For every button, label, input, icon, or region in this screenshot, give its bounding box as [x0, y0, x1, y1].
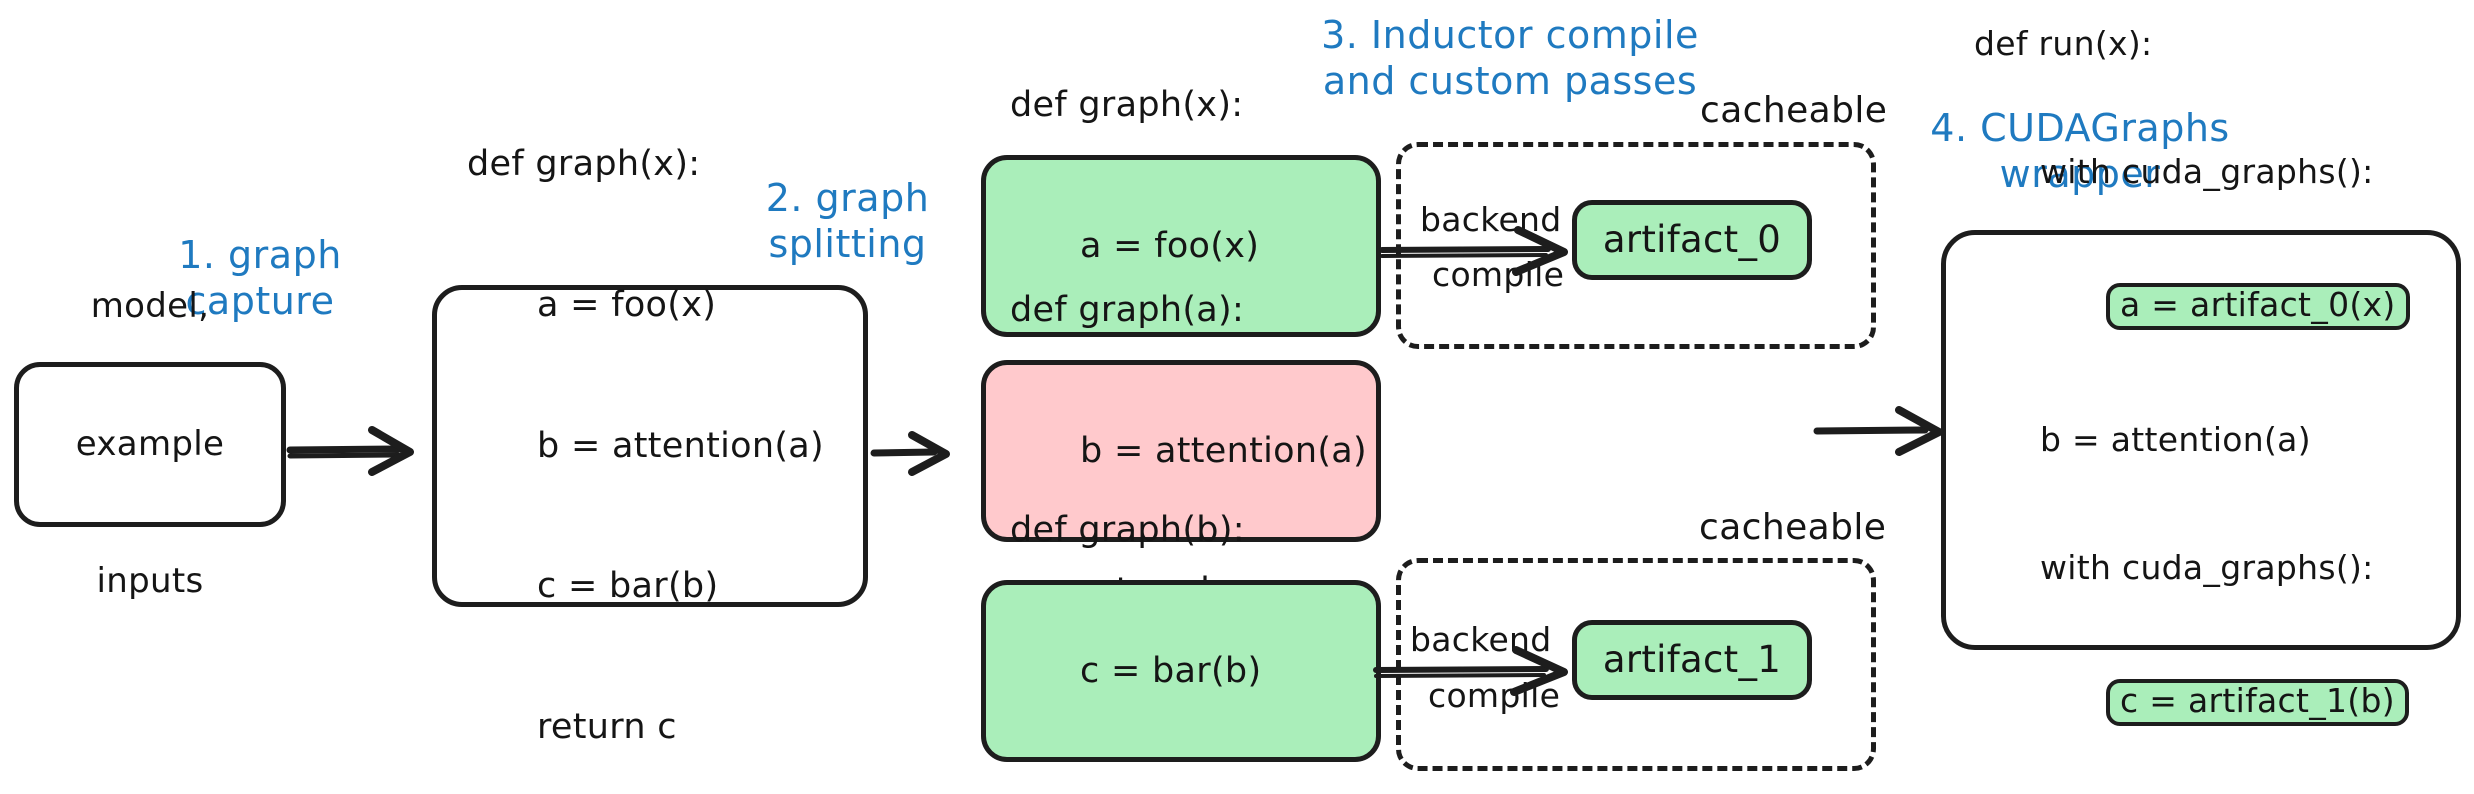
runtime-highlight-artifact-1: c = artifact_1(b) [2106, 679, 2409, 726]
artifact-1-label: artifact_1 [1603, 635, 1781, 685]
captured-graph-line-4: c = bar(b) [467, 563, 863, 610]
captured-graph-line-5: return c [467, 704, 863, 751]
runtime-line-3-wrap: a = artifact_0(x) [1974, 280, 2456, 333]
input-box-line-2: example [19, 422, 281, 468]
split-attention-line-1: def graph(a): [1010, 287, 1376, 334]
captured-graph-line-3: b = attention(a) [467, 423, 863, 470]
runtime-cudagraphs-box: def run(x): with cuda_graphs(): a = arti… [1941, 230, 2461, 650]
split-graph-box-bar: def graph(b): c = bar(b) return c [981, 580, 1381, 762]
artifact-box-1: artifact_1 [1572, 620, 1812, 700]
split-bar-line-2: c = bar(b) [1010, 648, 1376, 695]
runtime-line-6-wrap: c = artifact_1(b) [1974, 676, 2456, 729]
split-foo-line-1: def graph(x): [1010, 82, 1376, 129]
artifact-box-0: artifact_0 [1572, 200, 1812, 280]
runtime-line-4: b = attention(a) [1974, 419, 2456, 462]
cacheable-label-top: cacheable [1700, 90, 1887, 131]
cacheable-label-bottom: cacheable [1699, 507, 1886, 548]
diagram-canvas: 1. graph capture 2. graph splitting 3. I… [0, 0, 2474, 794]
runtime-line-1: def run(x): [1974, 23, 2456, 66]
captured-graph-box: def graph(x): a = foo(x) b = attention(a… [432, 285, 868, 607]
input-box-line-3: inputs [19, 559, 281, 605]
runtime-line-2: with cuda_graphs(): [1974, 151, 2456, 194]
artifact-0-label: artifact_0 [1603, 215, 1781, 265]
arrow-graph-to-split [872, 424, 982, 484]
arrow-input-to-graph [288, 408, 438, 488]
captured-graph-line-2: a = foo(x) [467, 282, 863, 329]
runtime-line-5: with cuda_graphs(): [1974, 547, 2456, 590]
input-box-line-1: model, [19, 284, 281, 330]
input-box-model-example-inputs: model, example inputs [14, 362, 286, 527]
runtime-highlight-artifact-0: a = artifact_0(x) [2106, 283, 2410, 330]
split-bar-line-3: return c [1010, 788, 1376, 794]
split-bar-line-1: def graph(b): [1010, 507, 1376, 554]
captured-graph-line-1: def graph(x): [467, 141, 863, 188]
